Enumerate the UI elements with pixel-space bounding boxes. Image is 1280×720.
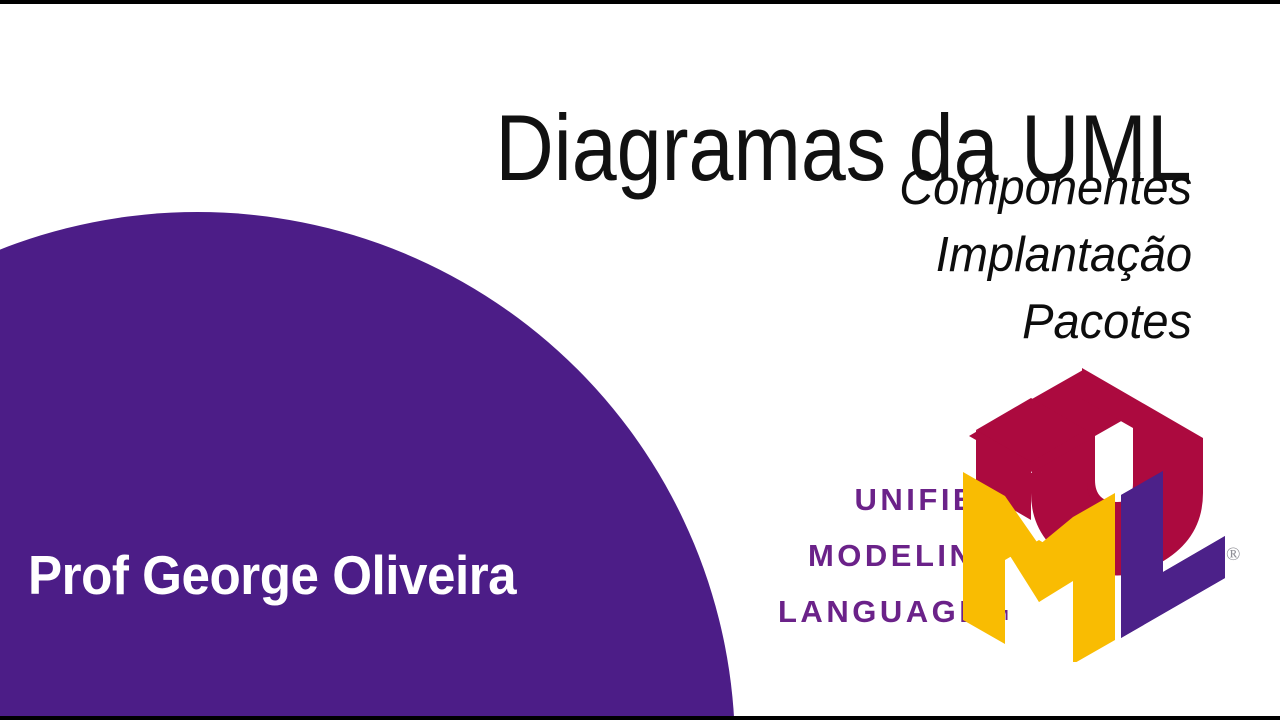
subtitle-line-1: Componentes: [899, 155, 1192, 222]
registered-trademark-icon: ®: [1226, 544, 1240, 566]
presentation-slide: Diagramas da UML Componentes Implantação…: [0, 0, 1280, 720]
subtitle-line-3: Pacotes: [899, 289, 1192, 356]
subtitle-list: Componentes Implantação Pacotes: [887, 155, 1192, 356]
letterbox-bar-bottom: [0, 716, 1280, 720]
uml-cube-svg: [953, 362, 1233, 662]
uml-cube-icon: [953, 362, 1233, 667]
letterbox-bar-top: [0, 0, 1280, 4]
presenter-name: Prof George Oliveira: [28, 543, 516, 607]
subtitle-line-2: Implantação: [899, 222, 1192, 289]
uml-logo: UNIFIED MODELING LANGUAGETM: [778, 362, 1258, 692]
purple-circle-decoration: [0, 212, 735, 720]
